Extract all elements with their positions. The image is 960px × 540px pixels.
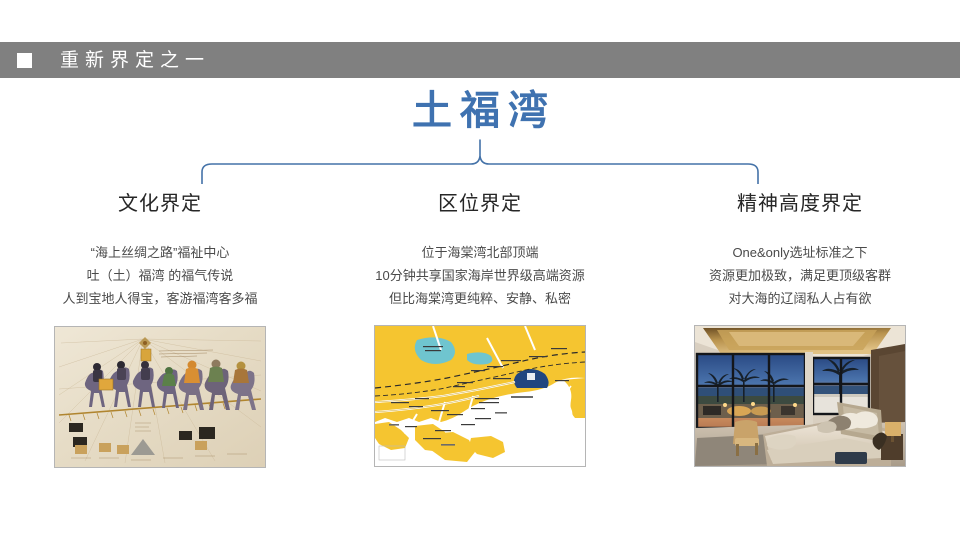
body-line: 位于海棠湾北部顶端 [375,242,584,265]
column-heading: 文化界定 [118,190,202,216]
column-heading: 精神高度界定 [737,190,863,216]
body-line: One&only选址标准之下 [709,242,891,265]
column-body-text: One&only选址标准之下 资源更加极致，满足更顶级客群 对大海的辽阔私人占有… [709,242,891,310]
body-line: 吐（土）福湾 的福气传说 [62,265,257,288]
oceanview-luxury-bedroom-image [694,325,906,467]
body-line: 对大海的辽阔私人占有欲 [709,288,891,311]
curly-brace-connector-icon [180,138,780,184]
square-bullet-icon [17,53,32,68]
column-spirit-definition: 精神高度界定 One&only选址标准之下 资源更加极致，满足更顶级客群 对大海… [640,190,960,468]
haitang-bay-location-map-image [374,325,586,467]
header-band: 重新界定之一 [0,42,960,78]
column-body-text: 位于海棠湾北部顶端 10分钟共享国家海岸世界级高端资源 但比海棠湾更纯粹、安静、… [375,242,584,310]
catalan-atlas-caravan-image [54,326,266,468]
columns-container: 文化界定 “海上丝绸之路”福祉中心 吐（土）福湾 的福气传说 人到宝地人得宝，客… [0,190,960,468]
column-body-text: “海上丝绸之路”福祉中心 吐（土）福湾 的福气传说 人到宝地人得宝，客游福湾客多… [62,242,257,310]
column-cultural-definition: 文化界定 “海上丝绸之路”福祉中心 吐（土）福湾 的福气传说 人到宝地人得宝，客… [0,190,320,468]
header-title: 重新界定之一 [60,51,210,70]
body-line: “海上丝绸之路”福祉中心 [62,242,257,265]
column-heading: 区位界定 [438,190,522,216]
column-location-definition: 区位界定 位于海棠湾北部顶端 10分钟共享国家海岸世界级高端资源 但比海棠湾更纯… [320,190,640,468]
body-line: 人到宝地人得宝，客游福湾客多福 [62,288,257,311]
body-line: 但比海棠湾更纯粹、安静、私密 [375,288,584,311]
body-line: 10分钟共享国家海岸世界级高端资源 [375,265,584,288]
body-line: 资源更加极致，满足更顶级客群 [709,265,891,288]
page-title: 土福湾 [0,88,960,134]
